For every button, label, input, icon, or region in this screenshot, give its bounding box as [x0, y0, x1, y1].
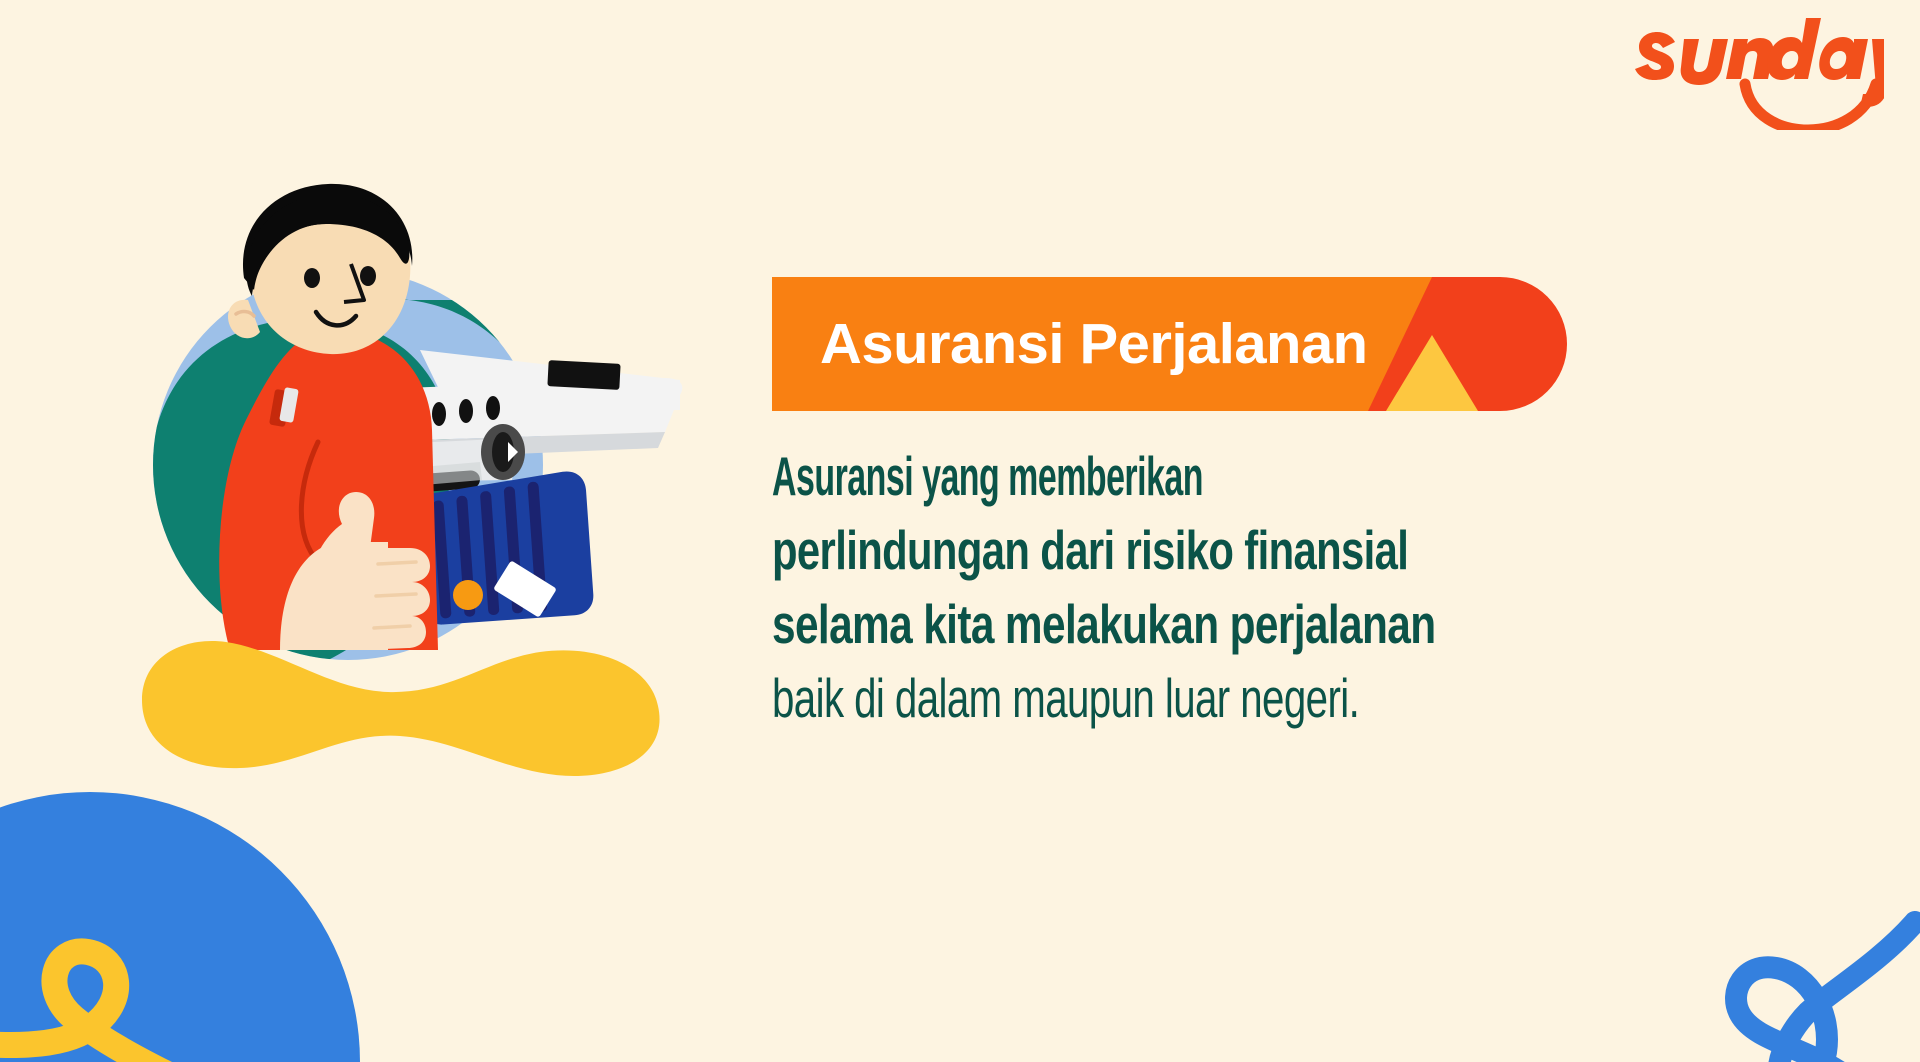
suitcase-dot	[453, 580, 483, 610]
person-figure	[219, 184, 438, 650]
yellow-loop-path	[0, 951, 270, 1062]
yellow-blob	[142, 641, 660, 776]
tail-marking	[547, 360, 620, 390]
sunday-logo[interactable]	[1632, 18, 1884, 130]
bottom-left-decoration	[0, 762, 390, 1062]
smile-arc-icon	[1745, 84, 1876, 130]
blue-loop-path	[1736, 922, 1915, 1062]
body-copy: Asuransi yang memberikan perlindungan da…	[772, 439, 1862, 735]
copy-line-2: perlindungan dari risiko finansial	[772, 513, 1600, 587]
sunday-wordmark-icon	[1632, 18, 1884, 130]
right-eye	[360, 266, 376, 286]
banner-title: Asuransi Perjalanan	[820, 311, 1368, 377]
bottom-right-decoration	[1700, 862, 1920, 1062]
traveler-illustration	[120, 180, 700, 780]
title-banner: Asuransi Perjalanan	[772, 277, 1572, 411]
content-column: Asuransi Perjalanan Asuransi yang member…	[772, 277, 1862, 735]
poster-canvas: Asuransi Perjalanan Asuransi yang member…	[0, 0, 1920, 1062]
copy-line-1: Asuransi yang memberikan	[772, 439, 1444, 513]
copy-line-4: baik di dalam maupun luar negeri.	[772, 661, 1570, 735]
blue-circle-shape	[0, 792, 360, 1062]
left-eye	[304, 268, 320, 288]
copy-line-3: selama kita melakukan perjalanan	[772, 587, 1612, 661]
suitcase-icon	[415, 470, 595, 626]
